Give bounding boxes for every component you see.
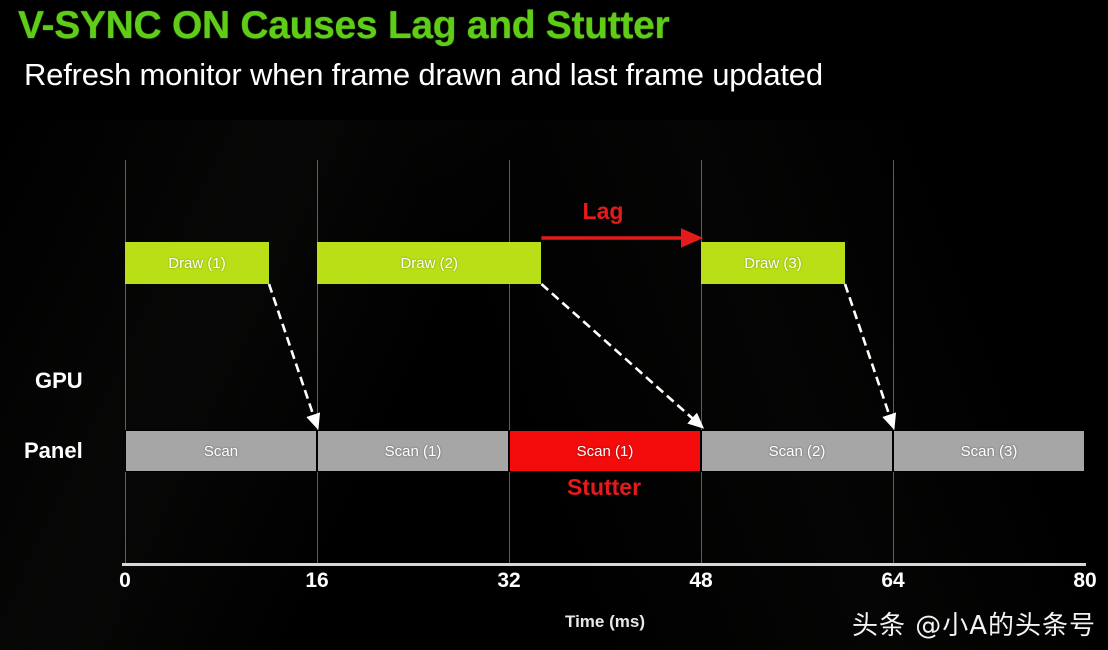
x-tick-label: 32 <box>497 569 520 593</box>
panel-bar: Scan (1) <box>509 430 701 472</box>
gpu-bar: Draw (2) <box>317 242 541 284</box>
stutter-annotation-label: Stutter <box>567 474 641 501</box>
lag-annotation-label: Lag <box>583 198 624 225</box>
annotation-overlay <box>0 120 1108 650</box>
x-tick-label: 80 <box>1073 569 1096 593</box>
panel-bar: Scan (3) <box>893 430 1085 472</box>
x-tick-label: 0 <box>119 569 131 593</box>
gpu-bar: Draw (3) <box>701 242 845 284</box>
gridline <box>317 160 318 564</box>
panel-bar: Scan (2) <box>701 430 893 472</box>
panel-bar: Scan <box>125 430 317 472</box>
row-label-gpu: GPU <box>35 368 83 394</box>
gpu-bar: Draw (1) <box>125 242 269 284</box>
page-title: V-SYNC ON Causes Lag and Stutter <box>18 4 669 48</box>
gridline <box>509 160 510 564</box>
row-label-panel: Panel <box>24 438 83 464</box>
gridline <box>893 160 894 564</box>
watermark: 头条 @小A的头条号 <box>852 605 1096 642</box>
slide-root: V-SYNC ON Causes Lag and Stutter Refresh… <box>0 0 1108 650</box>
slide-glare <box>0 120 1108 650</box>
frame-handoff-arrow <box>541 284 701 426</box>
gridline <box>701 160 702 564</box>
gridline <box>125 160 126 564</box>
frame-handoff-arrow <box>269 284 317 426</box>
x-axis-line <box>122 563 1086 566</box>
x-tick-label: 16 <box>305 569 328 593</box>
panel-bar: Scan (1) <box>317 430 509 472</box>
x-tick-label: 64 <box>881 569 904 593</box>
x-axis-title: Time (ms) <box>565 612 645 632</box>
timing-diagram: GPU Panel Draw (1)Draw (2)Draw (3) ScanS… <box>0 120 1108 650</box>
x-tick-label: 48 <box>689 569 712 593</box>
frame-handoff-arrow <box>845 284 893 426</box>
page-subtitle: Refresh monitor when frame drawn and las… <box>24 57 823 93</box>
